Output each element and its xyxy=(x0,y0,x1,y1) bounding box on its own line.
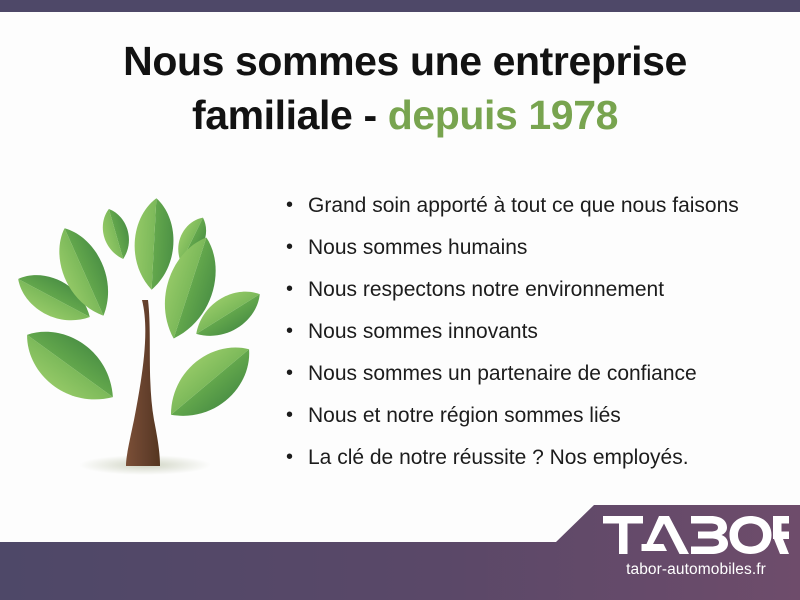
bullet-marker-icon: • xyxy=(286,402,308,429)
brand-url[interactable]: tabor-automobiles.fr xyxy=(598,561,794,579)
list-item-label: Nous et notre région sommes liés xyxy=(308,402,621,429)
list-item: • La clé de notre réussite ? Nos employé… xyxy=(286,444,786,486)
list-item: • Nous sommes un partenaire de confiance xyxy=(286,360,786,402)
list-item-label: Nous sommes un partenaire de confiance xyxy=(308,360,697,387)
brand-logo[interactable]: tabor-automobiles.fr xyxy=(598,516,794,579)
bullet-marker-icon: • xyxy=(286,234,308,261)
title-line-2-plain: familiale - xyxy=(192,92,388,138)
list-item: • Nous respectons notre environnement xyxy=(286,276,786,318)
list-item-label: Grand soin apporté à tout ce que nous fa… xyxy=(308,192,739,219)
top-accent-bar xyxy=(0,0,800,12)
tree-icon xyxy=(14,182,280,482)
list-item: • Grand soin apporté à tout ce que nous … xyxy=(286,192,786,234)
bullet-marker-icon: • xyxy=(286,360,308,387)
bullet-marker-icon: • xyxy=(286,444,308,471)
list-item-label: Nous sommes humains xyxy=(308,234,527,261)
list-item: • Nous sommes humains xyxy=(286,234,786,276)
list-item: • Nous sommes innovants xyxy=(286,318,786,360)
page-title: Nous sommes une entreprise familiale - d… xyxy=(60,34,750,142)
bullet-marker-icon: • xyxy=(286,276,308,303)
tabor-wordmark-icon xyxy=(603,516,789,554)
tree-illustration xyxy=(14,182,280,482)
title-line-1: Nous sommes une entreprise xyxy=(123,38,687,84)
bullet-list: • Grand soin apporté à tout ce que nous … xyxy=(286,192,786,486)
bullet-marker-icon: • xyxy=(286,192,308,219)
tree-trunk xyxy=(126,300,160,466)
bullet-marker-icon: • xyxy=(286,318,308,345)
list-item: • Nous et notre région sommes liés xyxy=(286,402,786,444)
list-item-label: Nous respectons notre environnement xyxy=(308,276,664,303)
list-item-label: La clé de notre réussite ? Nos employés. xyxy=(308,444,689,471)
title-line-2-accent: depuis 1978 xyxy=(388,92,618,138)
slide-canvas: Nous sommes une entreprise familiale - d… xyxy=(0,0,800,600)
list-item-label: Nous sommes innovants xyxy=(308,318,538,345)
